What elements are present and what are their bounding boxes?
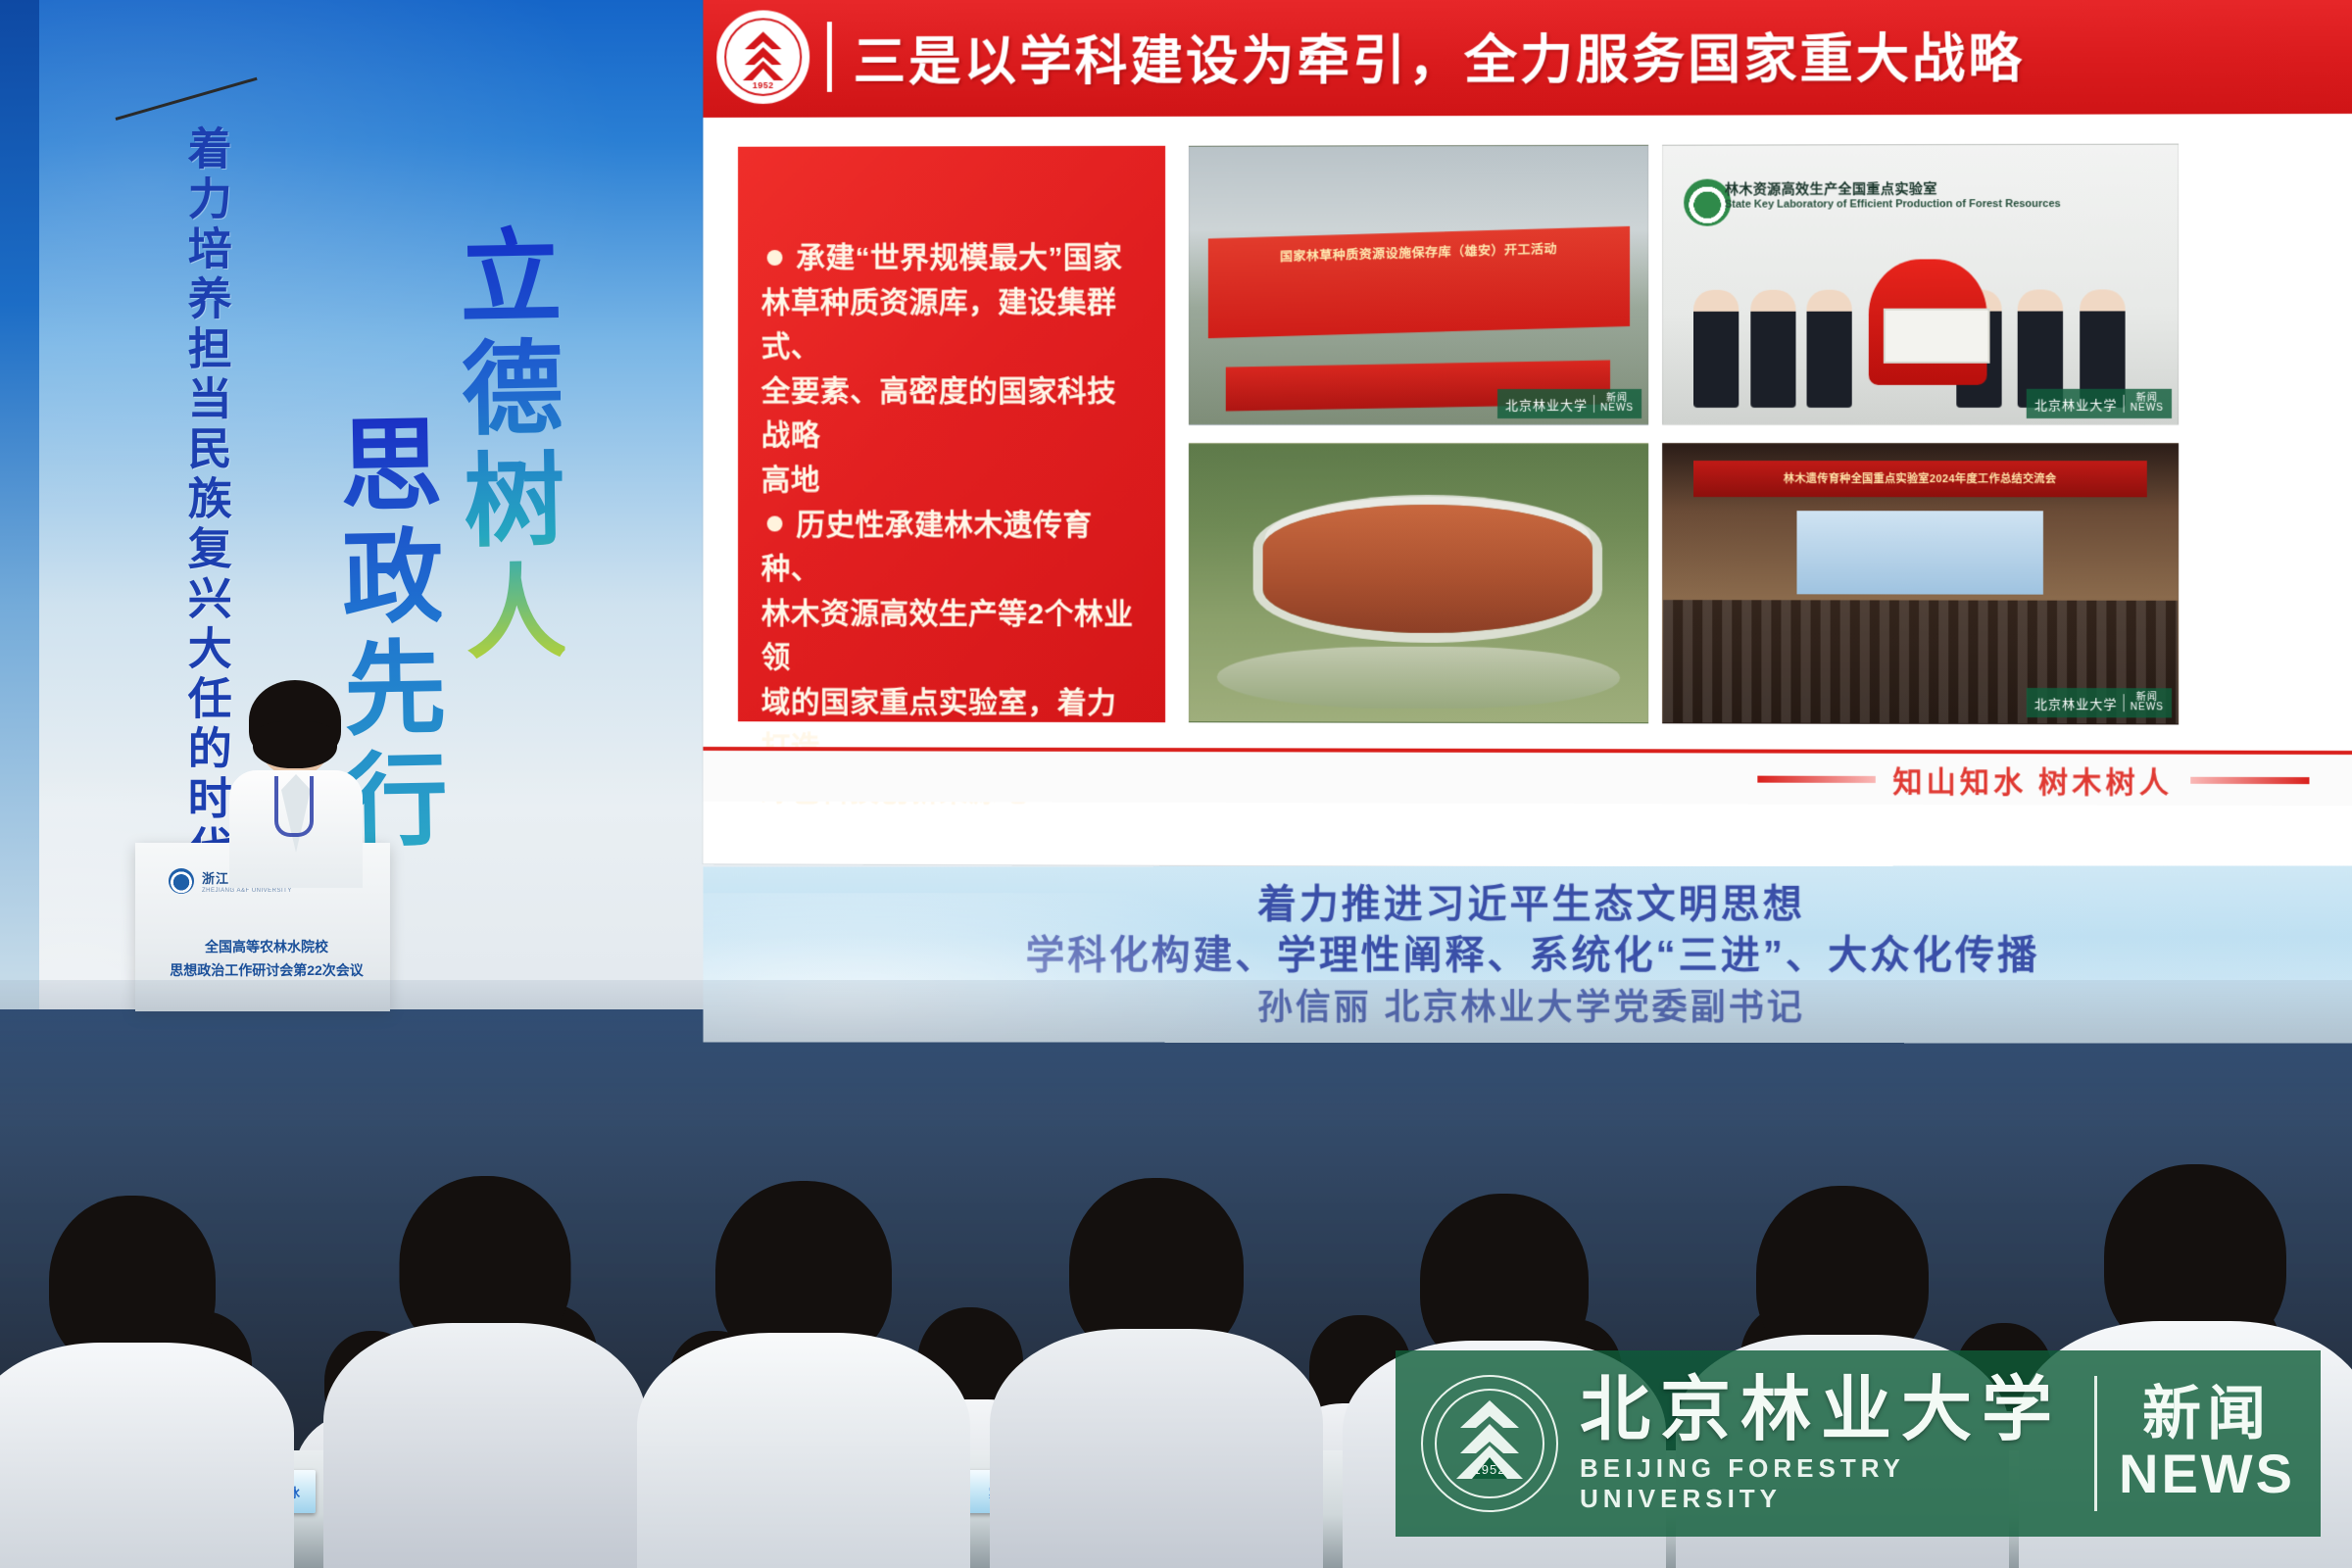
bullet-2-line-2: 林木资源高效生产等2个林业领	[761, 592, 1145, 681]
photo-tag-news-cn: 新闻	[2136, 692, 2158, 703]
audience-body	[0, 1343, 294, 1568]
bullet-1-line-3: 全要素、高密度的国家科技战略	[761, 369, 1145, 459]
photo-tag-news-en: NEWS	[1600, 403, 1634, 414]
watermark-divider	[2094, 1376, 2097, 1511]
photo-tag-cn: 北京林业大学	[2034, 694, 2118, 712]
building-roof	[1262, 505, 1592, 633]
audience-body	[637, 1333, 970, 1568]
watermark-news-en: NEWS	[2119, 1445, 2295, 1503]
hall-banner-text: 林木遗传育种全国重点实验室2024年度工作总结交流会	[1693, 461, 2146, 497]
photo-watermark-tag: 北京林业大学 新闻 NEWS	[2027, 688, 2172, 717]
photo-tag-divider	[2124, 694, 2125, 711]
groundbreaking-banner: 国家林草种质资源设施保存库（雄安）开工活动	[1208, 226, 1630, 339]
seal-year-label: 1952	[1423, 1462, 1556, 1477]
title-divider	[827, 22, 832, 92]
bullet-item-2: 历史性承建林木遗传育种、	[761, 503, 1145, 592]
photo-tag-cn: 北京林业大学	[2034, 394, 2118, 413]
presentation-slide: 1952 三是以学科建设为牵引，全力服务国家重大战略 承建“世界规模最大”国家 …	[703, 0, 2352, 869]
screenshot-stage: 着力培养担当民族复兴大任的时代新人 立德树人 思政先行 1952 三是以学科建设…	[0, 0, 2352, 1568]
audience-member-front	[323, 1205, 647, 1568]
lab-attendee	[1807, 290, 1852, 408]
photo-tag-news-en: NEWS	[2131, 403, 2164, 414]
audience-member-front	[990, 1215, 1323, 1568]
speaker-figure	[223, 686, 370, 882]
audience-body	[323, 1323, 647, 1568]
watermark-news-cn: 新闻	[2119, 1384, 2295, 1445]
lab-caption: 林木资源高效生产全国重点实验室 State Key Laboratory of …	[1725, 178, 2147, 211]
podium-line-1: 全国高等农林水院校	[157, 937, 376, 956]
lab-caption-en: State Key Laboratory of Efficient Produc…	[1725, 198, 2147, 211]
bullet-dot-icon	[767, 516, 783, 532]
bullet-2-line-1: 历史性承建林木遗传育种、	[761, 509, 1093, 585]
motto-rule-left	[1757, 775, 1875, 782]
slide-body: 承建“世界规模最大”国家 林草种质资源库，建设集群式、 全要素、高密度的国家科技…	[703, 114, 2352, 751]
photo-watermark-tag: 北京林业大学 新闻 NEWS	[2027, 389, 2172, 418]
lab-plaque	[1884, 308, 1990, 363]
bullet-item-1: 承建“世界规模最大”国家	[761, 236, 1145, 281]
bfu-seal-icon: 1952	[1421, 1375, 1558, 1512]
speaker-hair	[249, 680, 341, 760]
groundbreaking-photo: 国家林草种质资源设施保存库（雄安）开工活动 北京林业大学 新闻 NEWS	[1189, 145, 1648, 425]
slide-motto-bar: 知山知水 树木树人	[703, 747, 2352, 806]
photo-tag-news-cn: 新闻	[2136, 392, 2158, 403]
lab-attendee	[1750, 290, 1795, 408]
photo-tag-news-en: NEWS	[2131, 702, 2164, 712]
audience-member-front	[637, 1220, 970, 1568]
photo-watermark-tag: 北京林业大学 新闻 NEWS	[1497, 389, 1641, 418]
bfu-seal-icon: 1952	[716, 10, 809, 104]
slide-motto: 知山知水 树木树人	[1892, 758, 2173, 802]
watermark-news-block: 新闻 NEWS	[2119, 1384, 2295, 1503]
bullet-1-line-2: 林草种质资源库，建设集群式、	[761, 280, 1145, 369]
backdrop-left-edge	[0, 0, 39, 1009]
banner-line-1: 着力推进习近平生态文明思想	[703, 880, 2352, 931]
photo-tag-news-cn: 新闻	[1606, 392, 1628, 403]
bullet-1-line-1: 承建“世界规模最大”国家	[796, 242, 1122, 274]
bfu-news-watermark: 1952 北京林业大学 BEIJING FORESTRY UNIVERSITY …	[1396, 1350, 2321, 1537]
audience-member-front	[0, 1235, 294, 1568]
lab-caption-cn: 林木资源高效生产全国重点实验室	[1725, 180, 1937, 196]
watermark-university-name: 北京林业大学 BEIJING FORESTRY UNIVERSITY	[1580, 1373, 2073, 1514]
photo-tag-divider	[1593, 395, 1594, 413]
seal-year-label: 1952	[719, 80, 807, 90]
speaker-lanyard	[274, 776, 314, 837]
bullet-1-line-4: 高地	[761, 459, 1145, 504]
podium-seal-icon	[169, 868, 194, 894]
hall-banner: 林木遗传育种全国重点实验室2024年度工作总结交流会	[1693, 461, 2146, 497]
hall-projection-screen	[1796, 511, 2043, 595]
podium-logo-subtext: ZHEJIANG A&F UNIVERSITY	[202, 888, 292, 894]
slide-title-bar: 1952 三是以学科建设为牵引，全力服务国家重大战略	[703, 0, 2352, 118]
bullet-dot-icon	[767, 250, 783, 266]
banner-line-2: 学科化构建、学理性阐释、系统化“三进”、大众化传播	[703, 931, 2352, 982]
watermark-name-cn: 北京林业大学	[1580, 1373, 2073, 1447]
podium-line-2: 思想政治工作研讨会第22次会议	[157, 960, 376, 980]
building-plaza	[1217, 647, 1620, 709]
red-bullet-card: 承建“世界规模最大”国家 林草种质资源库，建设集群式、 全要素、高密度的国家科技…	[738, 146, 1165, 722]
audience-body	[990, 1329, 1323, 1568]
lab-unveiling-photo: 林木资源高效生产全国重点实验室 State Key Laboratory of …	[1662, 144, 2179, 425]
motto-rule-right	[2190, 776, 2309, 783]
photo-tag-cn: 北京林业大学	[1505, 394, 1588, 413]
research-building-photo	[1189, 443, 1648, 723]
conference-hall-photo: 林木遗传育种全国重点实验室2024年度工作总结交流会 北京林业大学 新闻 NEW…	[1662, 443, 2179, 724]
groundbreaking-banner-text: 国家林草种质资源设施保存库（雄安）开工活动	[1208, 236, 1630, 268]
lab-attendee	[1693, 290, 1739, 408]
photo-tag-divider	[2124, 395, 2125, 413]
calligraphy-lide-shuren: 立德树人	[439, 222, 565, 671]
slide-title: 三是以学科建设为牵引，全力服务国家重大战略	[854, 15, 2025, 95]
watermark-name-en: BEIJING FORESTRY UNIVERSITY	[1580, 1453, 2073, 1514]
